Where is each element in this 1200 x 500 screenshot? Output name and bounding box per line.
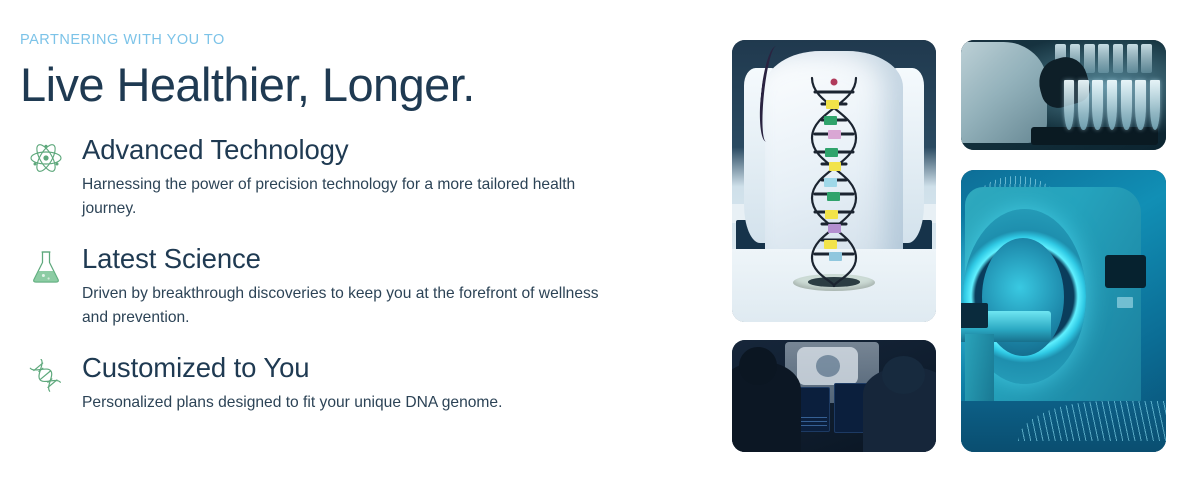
dna-icon bbox=[20, 356, 72, 396]
feature-body: Latest Science Driven by breakthrough di… bbox=[72, 243, 680, 330]
feature-item-advanced-technology: Advanced Technology Harnessing the power… bbox=[20, 134, 680, 221]
dna-model-photo bbox=[732, 40, 936, 322]
feature-item-latest-science: Latest Science Driven by breakthrough di… bbox=[20, 243, 680, 330]
feature-list: Advanced Technology Harnessing the power… bbox=[20, 134, 680, 415]
image-collage bbox=[732, 40, 1166, 452]
hero-section: PARTNERING WITH YOU TO Live Healthier, L… bbox=[0, 0, 1200, 500]
feature-item-customized-to-you: Customized to You Personalized plans des… bbox=[20, 352, 680, 415]
feature-body: Advanced Technology Harnessing the power… bbox=[72, 134, 680, 221]
feature-title: Latest Science bbox=[82, 243, 680, 275]
feature-title: Advanced Technology bbox=[82, 134, 680, 166]
feature-title: Customized to You bbox=[82, 352, 680, 384]
feature-description: Driven by breakthrough discoveries to ke… bbox=[82, 282, 602, 329]
feature-description: Personalized plans designed to fit your … bbox=[82, 391, 602, 415]
page-title: Live Healthier, Longer. bbox=[20, 59, 680, 112]
feature-description: Harnessing the power of precision techno… bbox=[82, 173, 602, 220]
feature-body: Customized to You Personalized plans des… bbox=[72, 352, 680, 415]
mri-scanner-photo bbox=[961, 170, 1166, 452]
flask-icon bbox=[20, 247, 72, 287]
control-room-photo bbox=[732, 340, 936, 452]
eyebrow-label: PARTNERING WITH YOU TO bbox=[20, 32, 680, 49]
hero-text-column: PARTNERING WITH YOU TO Live Healthier, L… bbox=[20, 32, 680, 415]
test-tubes-photo bbox=[961, 40, 1166, 150]
atom-icon bbox=[20, 138, 72, 178]
